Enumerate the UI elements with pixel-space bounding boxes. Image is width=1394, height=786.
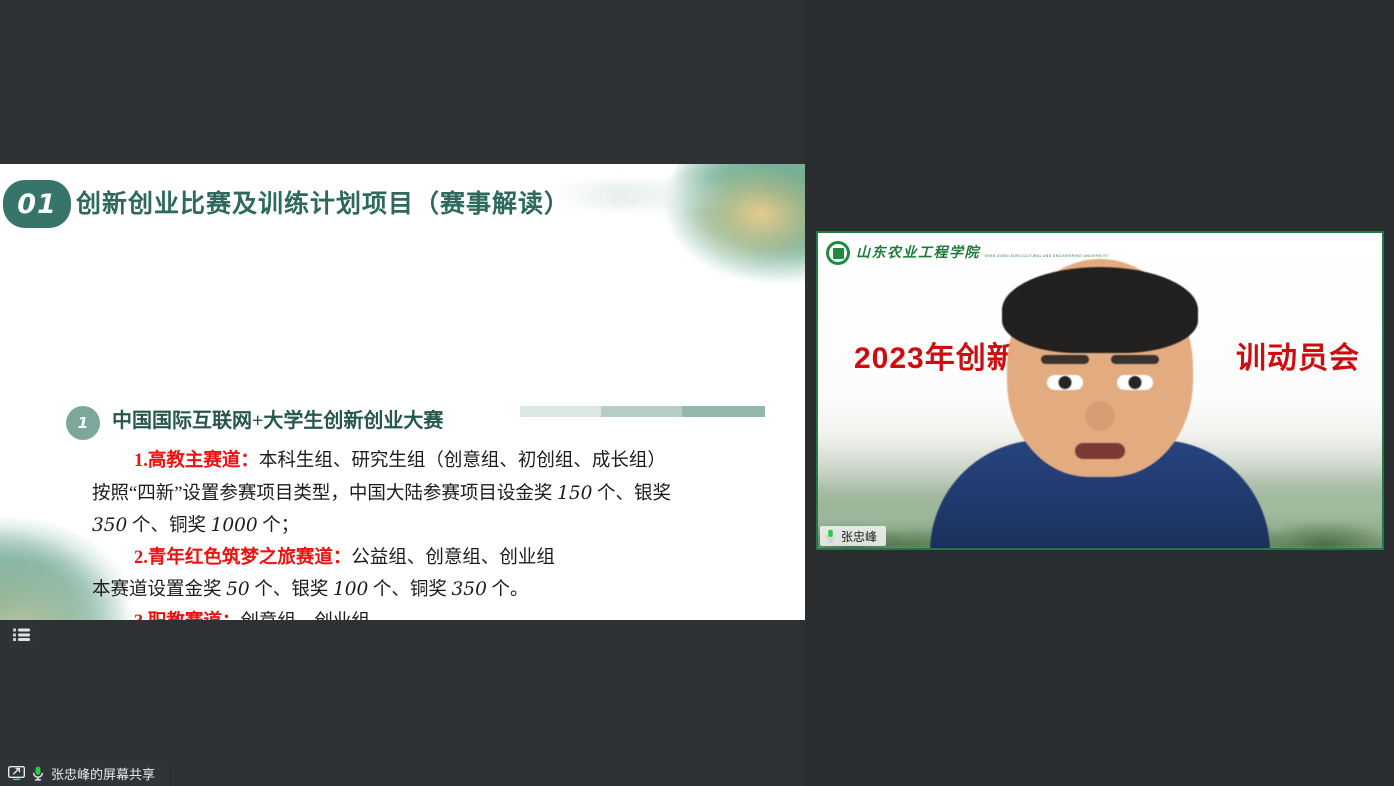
slide-body-text-run: 1.高教主赛道： (134, 451, 259, 471)
slide-body-text-run: 350 (92, 515, 127, 536)
slide-body-text-run: 本赛道设置金奖 (92, 580, 226, 600)
participant-name-label: 张忠峰 (820, 526, 886, 546)
microphone-icon (32, 766, 44, 781)
slide-body-text-run: 100 (333, 579, 368, 600)
slide-body-text-run: 1000 (211, 515, 258, 536)
screen-share-icon (8, 766, 25, 781)
slide-body-text-run: 2.青年红色筑梦之旅赛道： (134, 548, 351, 568)
progress-indicator (520, 406, 765, 417)
slide-body-line: 1.高教主赛道：本科生组、研究生组（创意组、初创组、成长组） (92, 446, 772, 478)
slide-body-text-run: 3.职教赛道： (134, 612, 240, 621)
slide-title: 创新创业比赛及训练计划项目（赛事解读） (76, 184, 570, 220)
meeting-screen: 01 创新创业比赛及训练计划项目（赛事解读） 1 中国国际互联网+大学生创新创业… (0, 0, 1394, 786)
slide-body-line: 3.职教赛道：创意组、创业组 (92, 607, 772, 621)
shared-screen-region[interactable]: 01 创新创业比赛及训练计划项目（赛事解读） 1 中国国际互联网+大学生创新创业… (0, 0, 805, 786)
progress-segment-2 (601, 406, 682, 417)
screen-share-status-label: 张忠峰的屏幕共享 (51, 764, 155, 783)
slide-body-text-run: 个； (258, 516, 300, 536)
microphone-icon (825, 529, 836, 543)
slide-body-text-run: 按照“四新”设置参赛项目类型，中国大陆参赛项目设金奖 (92, 484, 557, 504)
participant-video-tile[interactable]: 山东农业工程学院 SHAN DONG AGRICULTURAL AND ENGI… (816, 231, 1384, 550)
slide-body-text: 1.高教主赛道：本科生组、研究生组（创意组、初创组、成长组）按照“四新”设置参赛… (92, 446, 772, 620)
slide-body-line: 本赛道设置金奖 50 个、银奖 100 个、铜奖 350 个。 (92, 574, 772, 607)
slide-body-text-run: 个、铜奖 (127, 516, 210, 536)
screen-share-status-bar[interactable]: 张忠峰的屏幕共享 (0, 760, 169, 786)
slide-body-text-run: 个。 (487, 580, 529, 600)
slide-body-text-run: 350 (452, 579, 487, 600)
slide-body-text-run: 个、银奖 (592, 484, 671, 504)
slide-body-line: 2.青年红色筑梦之旅赛道：公益组、创意组、创业组 (92, 543, 772, 575)
slide-body-text-run: 个、铜奖 (368, 580, 451, 600)
slide-body-text-run: 创意组、创业组 (240, 612, 370, 621)
slide-body-text-run: 个、银奖 (250, 580, 333, 600)
progress-segment-1 (520, 406, 601, 417)
slide-body-text-run: 公益组、创意组、创业组 (351, 548, 555, 568)
participant-person-image (818, 233, 1382, 548)
decorative-marble-top-right (545, 164, 805, 294)
slide-body-text-run: 本科生组、研究生组（创意组、初创组、成长组） (259, 451, 666, 471)
slide-body-text-run: 150 (557, 483, 592, 504)
presentation-slide[interactable]: 01 创新创业比赛及训练计划项目（赛事解读） 1 中国国际互联网+大学生创新创业… (0, 164, 805, 620)
participant-name: 张忠峰 (841, 528, 877, 545)
section-number-badge: 01 (3, 180, 71, 228)
slide-body-line: 350 个、铜奖 1000 个； (92, 510, 772, 543)
slide-body-text-run: 50 (226, 579, 250, 600)
progress-segment-3 (682, 406, 765, 417)
list-menu-icon[interactable] (5, 620, 37, 649)
slide-body-line: 按照“四新”设置参赛项目类型，中国大陆参赛项目设金奖 150 个、银奖 (92, 478, 772, 511)
subsection-number-badge: 1 (66, 406, 100, 440)
slide-subtitle: 中国国际互联网+大学生创新创业大赛 (112, 404, 443, 433)
